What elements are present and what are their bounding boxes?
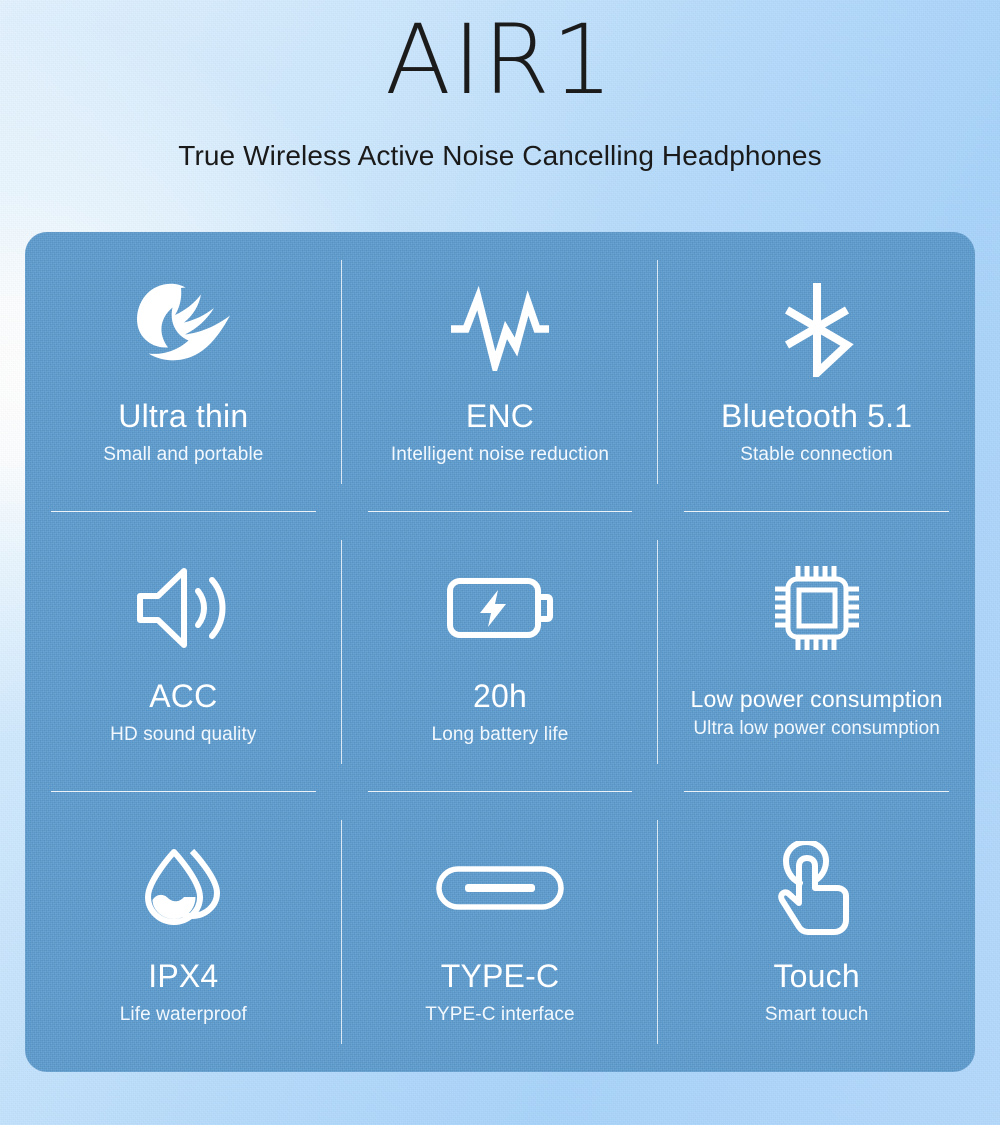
- feature-cell-acc[interactable]: ACC HD sound quality: [25, 512, 342, 792]
- usb-type-c-port-icon: [435, 840, 565, 936]
- feature-grid: Ultra thin Small and portable ENC Intell…: [25, 232, 975, 1072]
- feature-cell-ultra-thin[interactable]: Ultra thin Small and portable: [25, 232, 342, 512]
- bluetooth-icon: [774, 280, 860, 376]
- feature-cell-low-power[interactable]: Low power consumption Ultra low power co…: [658, 512, 975, 792]
- product-header: AIR1 True Wireless Active Noise Cancelli…: [0, 0, 1000, 172]
- feature-title: Ultra thin: [118, 376, 248, 435]
- feature-subtitle: TYPE-C interface: [425, 995, 574, 1026]
- waveform-icon: [448, 280, 552, 376]
- battery-charging-icon: [446, 560, 554, 656]
- feature-subtitle: Long battery life: [432, 715, 569, 746]
- touch-hand-icon: [775, 840, 859, 936]
- feature-title: Touch: [773, 936, 859, 995]
- feature-title: TYPE-C: [441, 936, 560, 995]
- feature-title: 20h: [473, 656, 527, 715]
- feature-title: IPX4: [148, 936, 218, 995]
- water-drops-icon: [137, 840, 229, 936]
- product-subtitle: True Wireless Active Noise Cancelling He…: [0, 113, 1000, 172]
- feature-panel: Ultra thin Small and portable ENC Intell…: [25, 232, 975, 1072]
- speaker-volume-icon: [134, 560, 232, 656]
- feature-subtitle: Stable connection: [740, 435, 893, 466]
- feature-title: Low power consumption: [691, 656, 943, 713]
- feature-subtitle: Ultra low power consumption: [693, 713, 940, 740]
- feature-subtitle: Intelligent noise reduction: [391, 435, 609, 466]
- feature-subtitle: HD sound quality: [110, 715, 256, 746]
- feature-cell-ipx4[interactable]: IPX4 Life waterproof: [25, 792, 342, 1072]
- chip-icon: [771, 560, 863, 656]
- feature-cell-enc[interactable]: ENC Intelligent noise reduction: [342, 232, 659, 512]
- feature-cell-bluetooth[interactable]: Bluetooth 5.1 Stable connection: [658, 232, 975, 512]
- feature-subtitle: Life waterproof: [120, 995, 247, 1026]
- feature-cell-battery[interactable]: 20h Long battery life: [342, 512, 659, 792]
- page-title: AIR1: [0, 0, 1000, 113]
- feature-subtitle: Small and portable: [103, 435, 263, 466]
- feature-cell-type-c[interactable]: TYPE-C TYPE-C interface: [342, 792, 659, 1072]
- feature-title: ACC: [149, 656, 217, 715]
- feature-title: ENC: [466, 376, 534, 435]
- feature-cell-touch[interactable]: Touch Smart touch: [658, 792, 975, 1072]
- feather-icon: [130, 280, 236, 376]
- feature-subtitle: Smart touch: [765, 995, 869, 1026]
- feature-title: Bluetooth 5.1: [721, 376, 912, 435]
